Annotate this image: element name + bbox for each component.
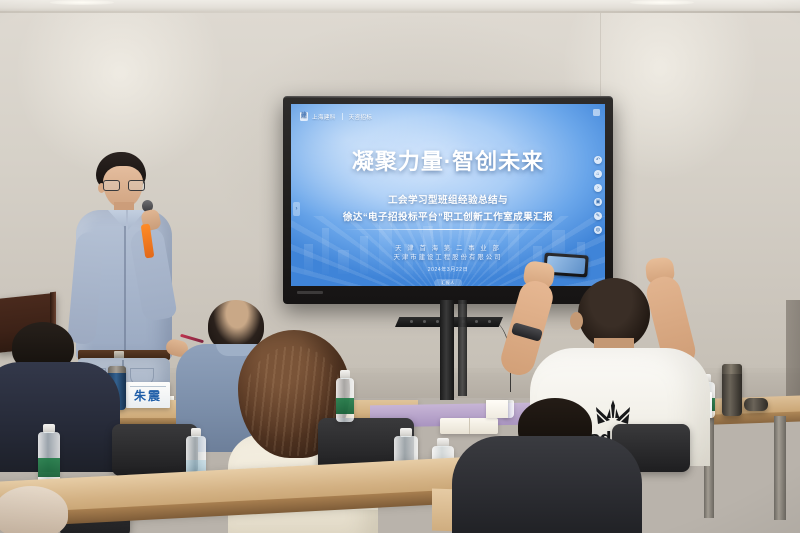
audience-dark-shirt: [452, 432, 642, 533]
water-bottle-woman-side: [336, 370, 354, 422]
logo-primary-text: 上海建科: [312, 113, 336, 121]
dark-shirt-torso: [452, 436, 642, 533]
slide-footer-badge: 汇报人: [434, 279, 462, 286]
display-stand-column-secondary: [458, 300, 467, 396]
thermos-lid: [722, 364, 742, 374]
screen-capture-icon[interactable]: [593, 109, 600, 116]
pen-icon[interactable]: ✎: [594, 212, 602, 220]
paper-card-purple-table: [486, 400, 508, 418]
display-brand-strip: [297, 291, 323, 294]
downlight-2: [630, 0, 694, 5]
thermos-flask-lying: [744, 398, 768, 411]
table-right-leg-outer: [774, 416, 786, 520]
display-stand-column: [440, 300, 454, 400]
slide-subtitle-rule: [343, 229, 553, 230]
camera-icon[interactable]: ▣: [594, 198, 602, 206]
downlight-1: [50, 0, 114, 5]
meeting-room-photo: 建 上海建科 天咨招标 凝聚力量·智创未来 工会学习型班组经验总结与 徐达“电子…: [0, 0, 800, 533]
slide-subtitle-line1: 工会学习型班组经验总结与: [291, 192, 605, 209]
slide-logo: 建 上海建科 天咨招标: [300, 112, 372, 121]
placard-name-text: 朱震: [134, 387, 162, 404]
slide-org-line1: 天 津 首 海 第 二 事 业 部: [291, 244, 605, 253]
display-bezel-highlight: [283, 96, 613, 98]
prev-page-icon[interactable]: ›: [293, 202, 300, 216]
adidas-ear: [570, 312, 583, 330]
logo-secondary-text: 天咨招标: [349, 113, 373, 121]
presenter-shirt-placket: [124, 226, 126, 354]
bottle-label: [336, 398, 354, 414]
thermos-flask-right: [722, 364, 742, 416]
home-icon[interactable]: ⌂: [594, 170, 602, 178]
screen-toolbar-rail[interactable]: ↶ ⌂ › ▣ ✎ ◍: [594, 156, 602, 234]
brand-mark-icon: 建: [300, 112, 308, 121]
slide-title: 凝聚力量·智创未来: [291, 144, 605, 176]
logo-divider: [342, 113, 343, 120]
suit-person-torso: [0, 362, 120, 472]
eyeglasses: [103, 180, 143, 189]
audience-suit-left: [0, 322, 120, 462]
undo-icon[interactable]: ↶: [594, 156, 602, 164]
placard-rule: [130, 386, 167, 387]
name-placard-left: 朱震: [126, 382, 170, 408]
slide-subtitle: 工会学习型班组经验总结与 徐达“电子招投标平台”职工创新工作室成果汇报: [291, 192, 605, 226]
next-page-icon[interactable]: ›: [594, 184, 602, 192]
water-bottle-front-left: [38, 424, 60, 486]
slide-subtitle-line2: 徐达“电子招投标平台”职工创新工作室成果汇报: [291, 209, 605, 226]
bottle-label: [38, 458, 60, 477]
eraser-icon[interactable]: ◍: [594, 226, 602, 234]
